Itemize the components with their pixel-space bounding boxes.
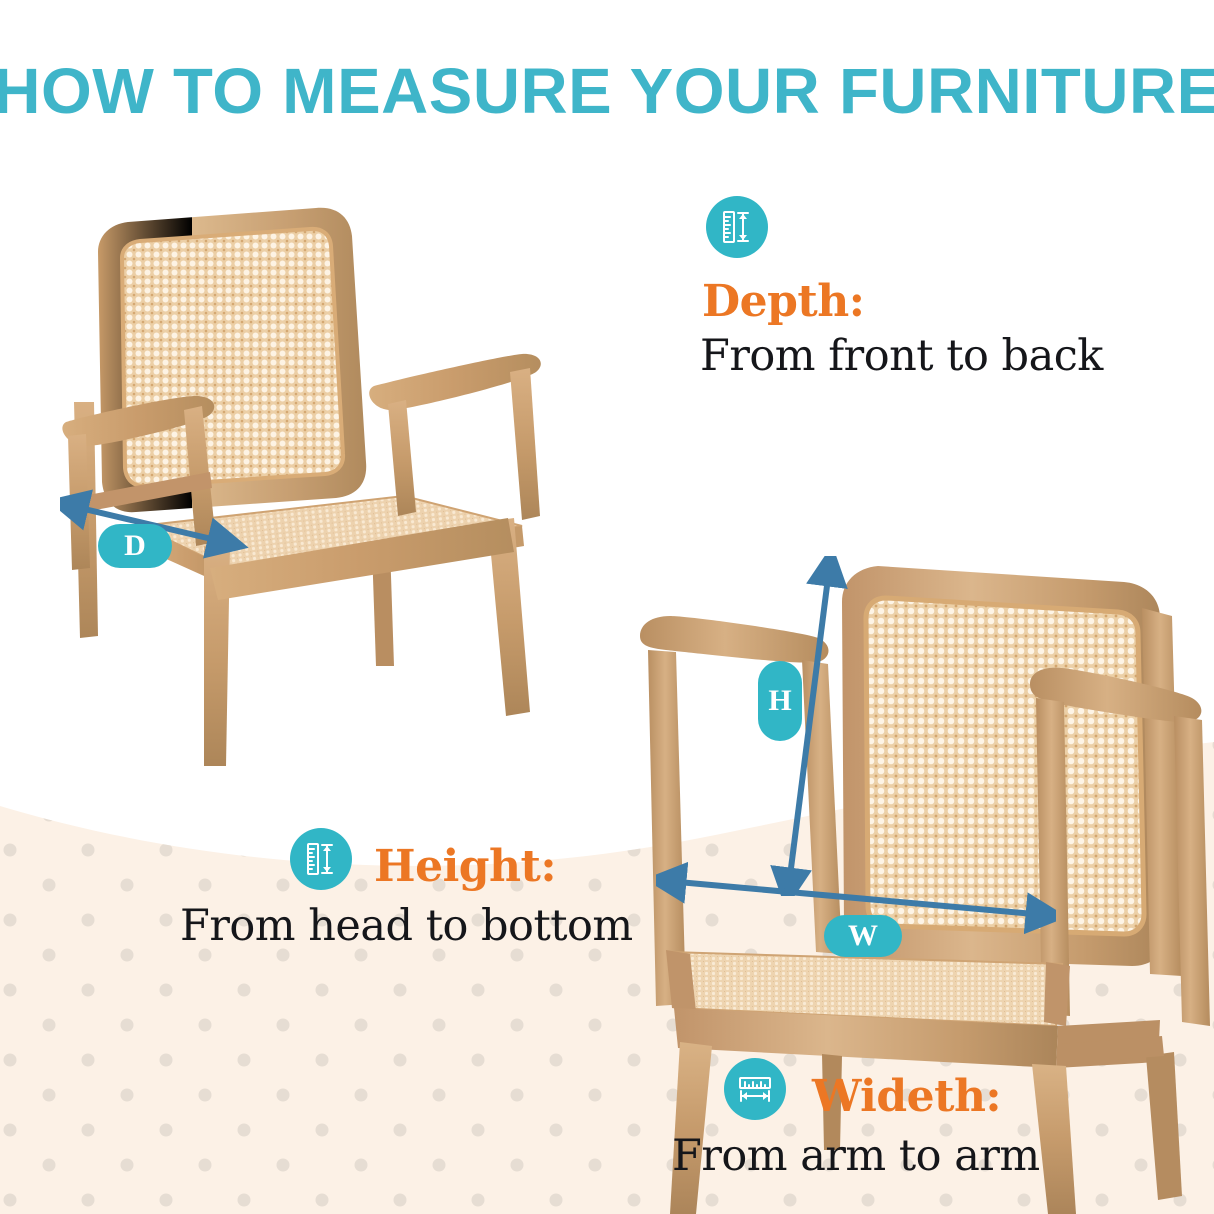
depth-label: Depth: xyxy=(702,280,1103,324)
height-info-block: Height: From head to bottom xyxy=(186,828,606,949)
horizontal-ruler-arrow-icon xyxy=(724,1058,786,1120)
width-description: From arm to arm xyxy=(672,1134,1096,1179)
vertical-ruler-arrow-icon xyxy=(706,196,768,258)
height-description: From head to bottom xyxy=(180,904,606,949)
width-badge: W xyxy=(824,915,902,957)
height-label: Height: xyxy=(374,845,556,889)
page-title: HOW TO MEASURE YOUR FURNITURE xyxy=(0,54,1214,128)
depth-badge: D xyxy=(98,524,172,568)
depth-description: From front to back xyxy=(700,334,1103,379)
width-label: Wideth: xyxy=(812,1075,1001,1119)
depth-info-block: Depth: From front to back xyxy=(700,196,1103,379)
height-badge: H xyxy=(758,661,802,741)
infographic-canvas: HOW TO MEASURE YOUR FURNITURE xyxy=(0,0,1214,1214)
width-info-block: Wideth: From arm to arm xyxy=(676,1058,1096,1179)
vertical-ruler-arrow-icon xyxy=(290,828,352,890)
